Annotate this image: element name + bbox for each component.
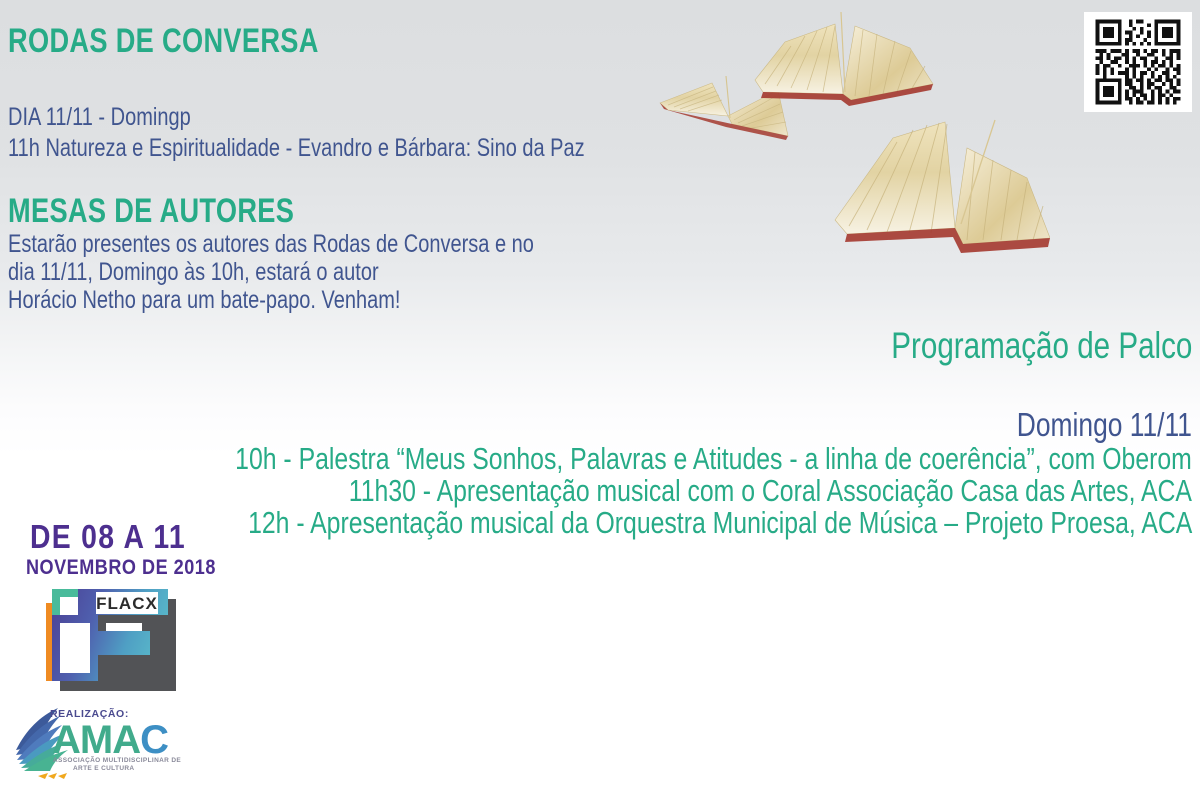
qr-code[interactable] [1084,12,1192,112]
palco-day-label: Domingo 11/11 [1017,406,1192,444]
mesas-text-line-2: dia 11/11, Domingo às 10h, estará o auto… [8,258,379,287]
rodas-de-conversa-title: RODAS DE CONVERSA [8,22,319,61]
mesas-text-line-3: Horácio Netho para um bate-papo. Venham! [8,286,400,315]
flacx-wordmark: FLACX [96,594,158,613]
flying-books-illustration [650,10,1050,310]
book-top [755,12,933,106]
event-date-range: DE 08 A 11 [30,518,186,556]
rodas-day-label: DIA 11/11 - Domingp [8,103,191,132]
amac-wordmark-green: AMA [52,718,140,762]
palco-item-2: 11h30 - Apresentação musical com o Coral… [349,473,1192,509]
mesas-text-line-1: Estarão presentes os autores das Rodas d… [8,230,534,259]
amac-wordmark-blue: C [140,718,168,762]
event-date-month: NOVEMBRO DE 2018 [26,556,216,580]
programacao-de-palco-title: Programação de Palco [891,325,1192,367]
amac-subtitle-line-2: ARTE E CULTURA [73,765,134,772]
poster-canvas: RODAS DE CONVERSA DIA 11/11 - Domingp 11… [0,0,1200,800]
amac-wordmark: AMAC [52,720,168,760]
rodas-entry: 11h Natureza e Espiritualidade - Evandro… [8,134,585,163]
palco-item-1: 10h - Palestra “Meus Sonhos, Palavras e … [235,441,1192,477]
amac-subtitle-line-1: ASSOCIAÇÃO MULTIDISCIPLINAR DE [53,757,181,764]
flacx-logo: FLACX [38,583,193,691]
book-bottom [835,120,1050,253]
mesas-de-autores-title: MESAS DE AUTORES [8,192,294,231]
palco-item-3: 12h - Apresentação musical da Orquestra … [248,505,1192,541]
